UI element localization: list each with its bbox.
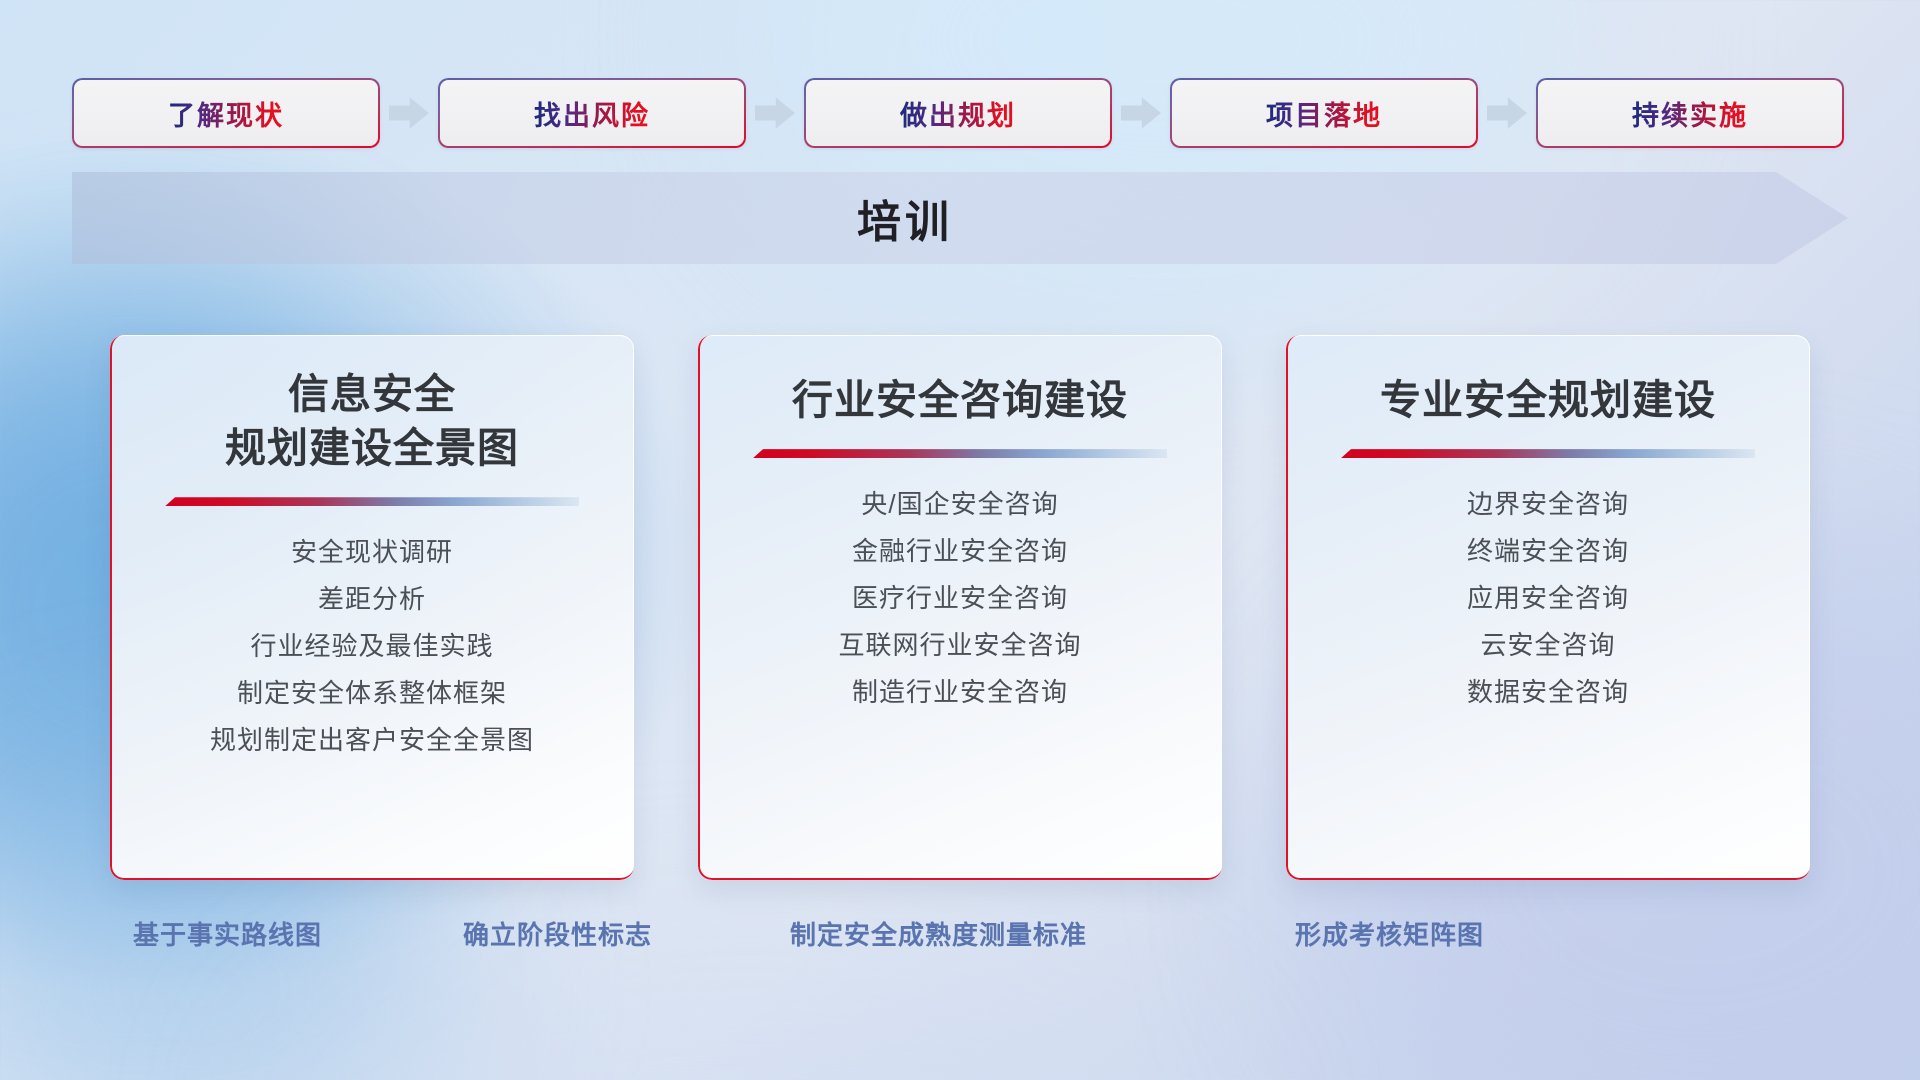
card-information-security-blueprint[interactable]: 信息安全 规划建设全景图 安全现状调研 差距分析 行业经验及最佳实践 制定安全体… (110, 335, 634, 880)
process-step-label: 项目落地 (1266, 94, 1382, 133)
process-steps-row: 了解现状 找出风险 做出规划 项目落地 持续实施 (72, 78, 1848, 148)
list-item: 制定安全体系整体框架 (237, 673, 507, 714)
footer-label-1: 基于事实路线图 (133, 915, 322, 952)
card-item-list: 边界安全咨询 终端安全咨询 应用安全咨询 云安全咨询 数据安全咨询 (1286, 484, 1810, 713)
card-title: 行业安全咨询建设 (770, 373, 1150, 427)
card-divider (165, 497, 579, 506)
process-step-label: 找出风险 (534, 94, 650, 133)
card-title: 专业安全规划建设 (1358, 373, 1738, 427)
list-item: 数据安全咨询 (1467, 672, 1629, 713)
process-step-label: 做出规划 (900, 94, 1016, 133)
card-industry-security-consulting[interactable]: 行业安全咨询建设 央/国企安全咨询 金融行业安全咨询 医疗行业安全咨询 互联网行… (698, 335, 1222, 880)
right-arrow-icon-1 (380, 78, 438, 148)
process-step-3[interactable]: 做出规划 (804, 78, 1112, 148)
list-item: 云安全咨询 (1480, 625, 1615, 666)
process-step-label: 了解现状 (168, 94, 284, 133)
list-item: 金融行业安全咨询 (852, 531, 1068, 572)
card-title-line1: 行业安全咨询建设 (792, 373, 1128, 427)
slide-stage: 了解现状 找出风险 做出规划 项目落地 持续实施 培训 信息安全 规划建设全景图 (0, 0, 1920, 1080)
footer-label-2: 确立阶段性标志 (463, 915, 652, 952)
card-professional-security-planning[interactable]: 专业安全规划建设 边界安全咨询 终端安全咨询 应用安全咨询 云安全咨询 数据安全… (1286, 335, 1810, 880)
list-item: 应用安全咨询 (1467, 578, 1629, 619)
right-arrow-icon-4 (1478, 78, 1536, 148)
list-item: 互联网行业安全咨询 (838, 625, 1081, 666)
card-title-line2: 规划建设全景图 (225, 421, 519, 475)
card-item-list: 安全现状调研 差距分析 行业经验及最佳实践 制定安全体系整体框架 规划制定出客户… (110, 532, 634, 761)
list-item: 制造行业安全咨询 (852, 672, 1068, 713)
card-title: 信息安全 规划建设全景图 (203, 367, 541, 475)
card-title-line1: 专业安全规划建设 (1380, 373, 1716, 427)
list-item: 边界安全咨询 (1467, 484, 1629, 525)
list-item: 差距分析 (318, 579, 426, 620)
footer-labels-row: 基于事实路线图 确立阶段性标志 制定安全成熟度测量标准 形成考核矩阵图 (0, 915, 1920, 967)
footer-label-3: 制定安全成熟度测量标准 (790, 915, 1087, 952)
card-item-list: 央/国企安全咨询 金融行业安全咨询 医疗行业安全咨询 互联网行业安全咨询 制造行… (698, 484, 1222, 713)
list-item: 行业经验及最佳实践 (250, 626, 493, 667)
training-banner: 培训 (72, 172, 1848, 264)
card-title-line1: 信息安全 (225, 367, 519, 421)
process-step-1[interactable]: 了解现状 (72, 78, 380, 148)
cards-row: 信息安全 规划建设全景图 安全现状调研 差距分析 行业经验及最佳实践 制定安全体… (110, 335, 1810, 880)
list-item: 医疗行业安全咨询 (852, 578, 1068, 619)
list-item: 央/国企安全咨询 (861, 484, 1058, 525)
list-item: 终端安全咨询 (1467, 531, 1629, 572)
right-arrow-icon-3 (1112, 78, 1170, 148)
list-item: 安全现状调研 (291, 532, 453, 573)
card-divider (1341, 449, 1755, 458)
footer-label-4: 形成考核矩阵图 (1295, 915, 1484, 952)
process-step-4[interactable]: 项目落地 (1170, 78, 1478, 148)
process-step-2[interactable]: 找出风险 (438, 78, 746, 148)
process-step-5[interactable]: 持续实施 (1536, 78, 1844, 148)
list-item: 规划制定出客户安全全景图 (210, 720, 534, 761)
banner-title: 培训 (72, 172, 1738, 264)
right-arrow-icon-2 (746, 78, 804, 148)
process-step-label: 持续实施 (1632, 94, 1748, 133)
card-divider (753, 449, 1167, 458)
